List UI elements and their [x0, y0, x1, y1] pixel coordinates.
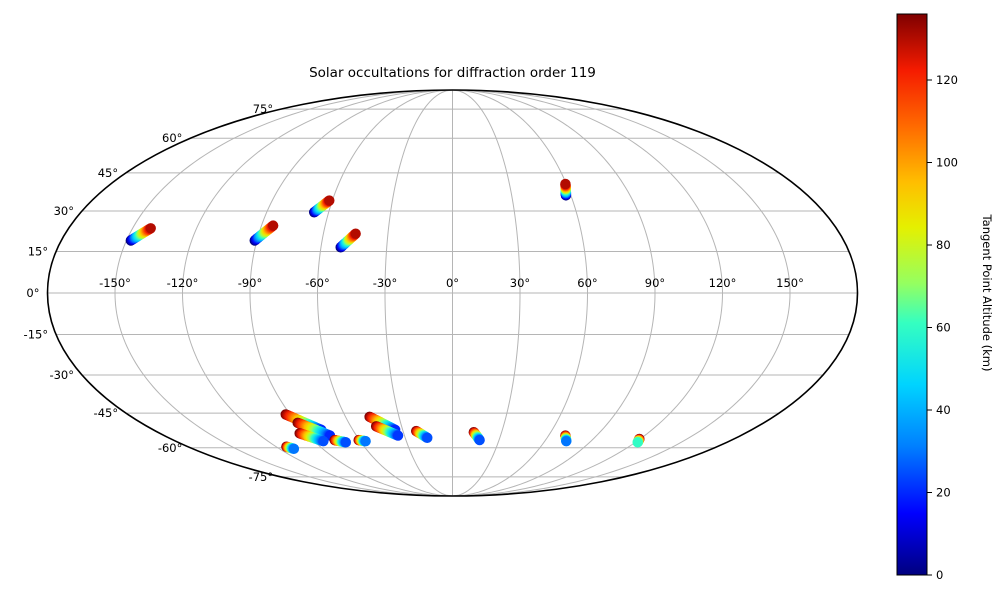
- figure-background: [0, 0, 1000, 600]
- longitude-tick-label: -90°: [238, 276, 263, 290]
- data-point: [360, 436, 370, 446]
- latitude-tick-label: 30°: [54, 204, 74, 218]
- latitude-tick-label: -30°: [49, 368, 74, 382]
- latitude-tick-label: 15°: [28, 244, 48, 258]
- latitude-tick-label: -15°: [24, 328, 49, 342]
- latitude-tick-label: 60°: [162, 131, 182, 145]
- colorbar-tick-label: 100: [936, 156, 958, 170]
- colorbar-tick-label: 0: [936, 568, 943, 582]
- data-point: [422, 433, 432, 443]
- longitude-tick-label: 60°: [577, 276, 597, 290]
- longitude-tick-label: -150°: [99, 276, 131, 290]
- data-point: [350, 229, 360, 239]
- data-point: [561, 436, 571, 446]
- colorbar-tick-label: 40: [936, 403, 951, 417]
- data-point: [560, 179, 570, 189]
- data-point: [268, 220, 278, 230]
- data-point: [324, 195, 334, 205]
- latitude-tick-label: 45°: [98, 166, 118, 180]
- longitude-tick-label: -30°: [373, 276, 398, 290]
- data-point: [341, 437, 351, 447]
- longitude-tick-label: 120°: [709, 276, 737, 290]
- data-point: [474, 435, 484, 445]
- data-point: [393, 430, 403, 440]
- data-point: [146, 223, 156, 233]
- longitude-tick-label: -60°: [305, 276, 330, 290]
- longitude-tick-label: 150°: [776, 276, 804, 290]
- longitude-tick-label: 30°: [510, 276, 530, 290]
- data-point: [289, 444, 299, 454]
- colorbar-tick-label: 20: [936, 486, 951, 500]
- longitude-tick-label: -120°: [167, 276, 199, 290]
- latitude-tick-label: 0°: [26, 286, 39, 300]
- colorbar-label: Tangent Point Altitude (km): [980, 214, 994, 372]
- latitude-tick-label: -75°: [249, 470, 274, 484]
- colorbar-tick-label: 120: [936, 73, 958, 87]
- colorbar-tick-label: 80: [936, 238, 951, 252]
- matplotlib-figure: Solar occultations for diffraction order…: [0, 0, 1000, 600]
- data-point: [318, 436, 328, 446]
- page-title: Solar occultations for diffraction order…: [309, 65, 596, 81]
- occultation-track: [560, 179, 571, 201]
- data-point: [633, 437, 643, 447]
- colorbar-gradient: [897, 14, 927, 575]
- latitude-tick-label: 75°: [253, 102, 273, 116]
- longitude-tick-label: 0°: [446, 276, 459, 290]
- figure-canvas: Solar occultations for diffraction order…: [0, 0, 1000, 600]
- colorbar-tick-label: 60: [936, 321, 951, 335]
- latitude-tick-label: -45°: [94, 406, 119, 420]
- latitude-tick-label: -60°: [158, 441, 183, 455]
- longitude-tick-label: 90°: [645, 276, 665, 290]
